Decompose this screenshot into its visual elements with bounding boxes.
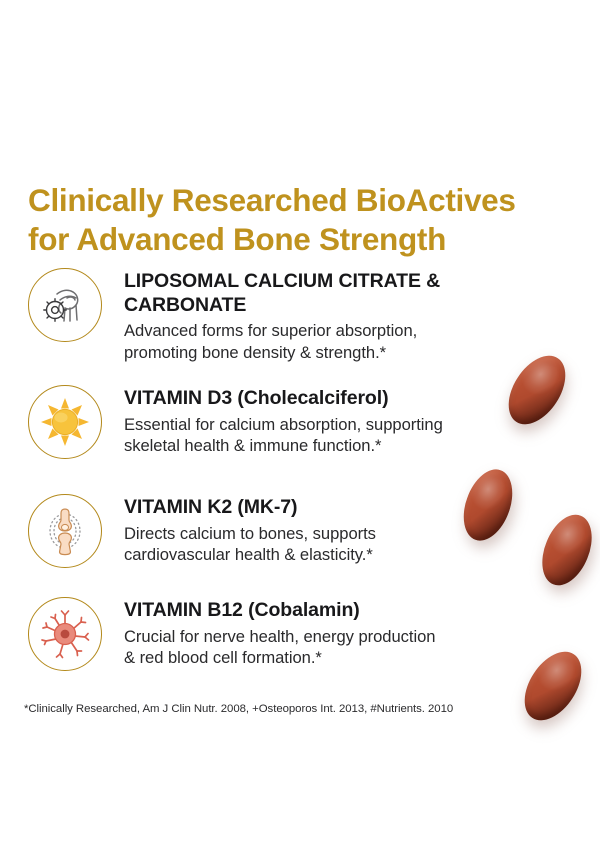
feature-item-vitamin-k2: VITAMIN K2 (MK-7) Directs calcium to bon… [28, 494, 376, 568]
feature-description: Directs calcium to bones, supports cardi… [124, 523, 376, 566]
page-title: Clinically Researched BioActives for Adv… [28, 181, 573, 259]
joint-bone-molecule-icon [28, 268, 102, 342]
feature-description-line-2: promoting bone density & strength.* [124, 342, 516, 364]
pill-image-3 [533, 507, 600, 592]
feature-description-line-1: Directs calcium to bones, supports [124, 523, 376, 545]
citation-footnote: *Clinically Researched, Am J Clin Nutr. … [24, 703, 453, 715]
neuron-cell-icon [28, 597, 102, 671]
feature-item-calcium: LIPOSOMAL CALCIUM CITRATE & CARBONATE Ad… [28, 268, 516, 363]
page-title-line-2: for Advanced Bone Strength [28, 220, 573, 259]
pill-image-4 [513, 642, 593, 731]
feature-title: VITAMIN D3 (Cholecalciferol) [124, 387, 443, 411]
sun-icon [28, 385, 102, 459]
promo-page: Clinically Researched BioActives for Adv… [0, 0, 600, 866]
feature-item-vitamin-d3: VITAMIN D3 (Cholecalciferol) Essential f… [28, 385, 443, 459]
feature-description-line-2: & red blood cell formation.* [124, 647, 435, 669]
pill-image-2 [455, 463, 522, 548]
feature-description: Crucial for nerve health, energy product… [124, 626, 435, 669]
feature-title: VITAMIN K2 (MK-7) [124, 496, 376, 520]
feature-description: Advanced forms for superior absorption, … [124, 320, 516, 363]
feature-text-vitamin-d3: VITAMIN D3 (Cholecalciferol) Essential f… [124, 385, 443, 457]
feature-description-line-1: Advanced forms for superior absorption, [124, 320, 516, 342]
feature-title: VITAMIN B12 (Cobalamin) [124, 599, 435, 623]
page-title-line-1: Clinically Researched BioActives [28, 181, 573, 220]
feature-title: LIPOSOMAL CALCIUM CITRATE & CARBONATE [124, 270, 516, 317]
feature-description-line-2: skeletal health & immune function.* [124, 435, 443, 457]
feature-text-vitamin-k2: VITAMIN K2 (MK-7) Directs calcium to bon… [124, 494, 376, 566]
feature-text-calcium: LIPOSOMAL CALCIUM CITRATE & CARBONATE Ad… [124, 268, 516, 363]
feature-item-vitamin-b12: VITAMIN B12 (Cobalamin) Crucial for nerv… [28, 597, 435, 671]
feature-description-line-2: cardiovascular health & elasticity.* [124, 544, 376, 566]
feature-text-vitamin-b12: VITAMIN B12 (Cobalamin) Crucial for nerv… [124, 597, 435, 669]
feature-description-line-1: Crucial for nerve health, energy product… [124, 626, 435, 648]
bone-joint-radiating-icon [28, 494, 102, 568]
feature-description-line-1: Essential for calcium absorption, suppor… [124, 414, 443, 436]
feature-description: Essential for calcium absorption, suppor… [124, 414, 443, 457]
